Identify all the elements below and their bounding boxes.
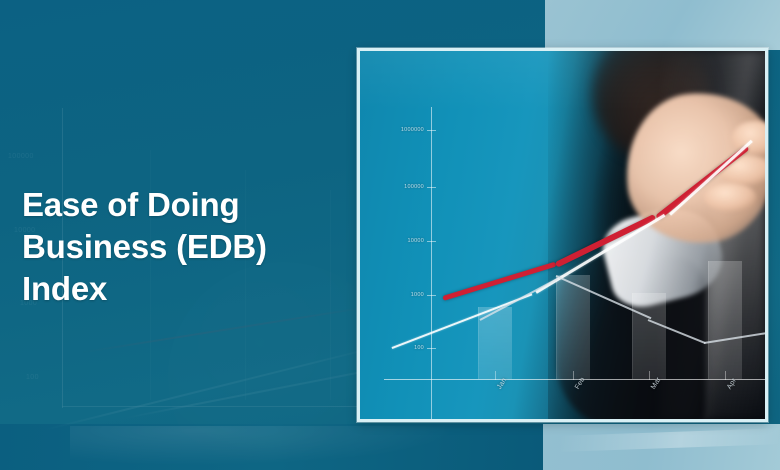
x-tick-mark <box>573 371 574 380</box>
chart-x-axis <box>384 379 765 380</box>
red-trend-line <box>442 262 556 301</box>
red-trend-line <box>555 214 656 267</box>
white-trend-line <box>669 140 753 216</box>
y-tick-mark <box>427 241 436 242</box>
x-tick-mark <box>495 371 496 380</box>
title-line-1: Ease of Doing <box>22 184 342 226</box>
y-tick-label: 10000 <box>378 238 424 244</box>
x-tick-mark <box>725 371 726 380</box>
top-right-panel <box>545 0 780 50</box>
title-line-2: Business (EDB) <box>22 226 342 268</box>
hero-photo: 1000000 100000 10000 1000 100 Jan Feb Ma… <box>360 51 765 419</box>
y-tick-label: 100000 <box>378 184 424 190</box>
y-tick-mark <box>427 130 436 131</box>
chart-bar <box>708 261 742 379</box>
x-tick-mark <box>649 371 650 380</box>
y-tick-label: 1000000 <box>378 127 424 133</box>
title-line-3: Index <box>22 268 342 310</box>
banner-stage: 100000 10000 1000 100 Ease of Doing Busi… <box>0 0 780 470</box>
y-tick-mark <box>427 187 436 188</box>
page-title: Ease of Doing Business (EDB) Index <box>22 184 342 311</box>
chart-bar <box>632 293 666 379</box>
chart-y-axis <box>431 107 432 419</box>
y-tick-mark <box>427 295 436 296</box>
photo-chart: 1000000 100000 10000 1000 100 Jan Feb Ma… <box>360 51 765 419</box>
bottom-left-sheen <box>70 426 490 470</box>
photo-frame: 1000000 100000 10000 1000 100 Jan Feb Ma… <box>357 48 768 422</box>
y-tick-label: 1000 <box>378 292 424 298</box>
chart-glow <box>360 51 765 111</box>
y-tick-mark <box>427 348 436 349</box>
